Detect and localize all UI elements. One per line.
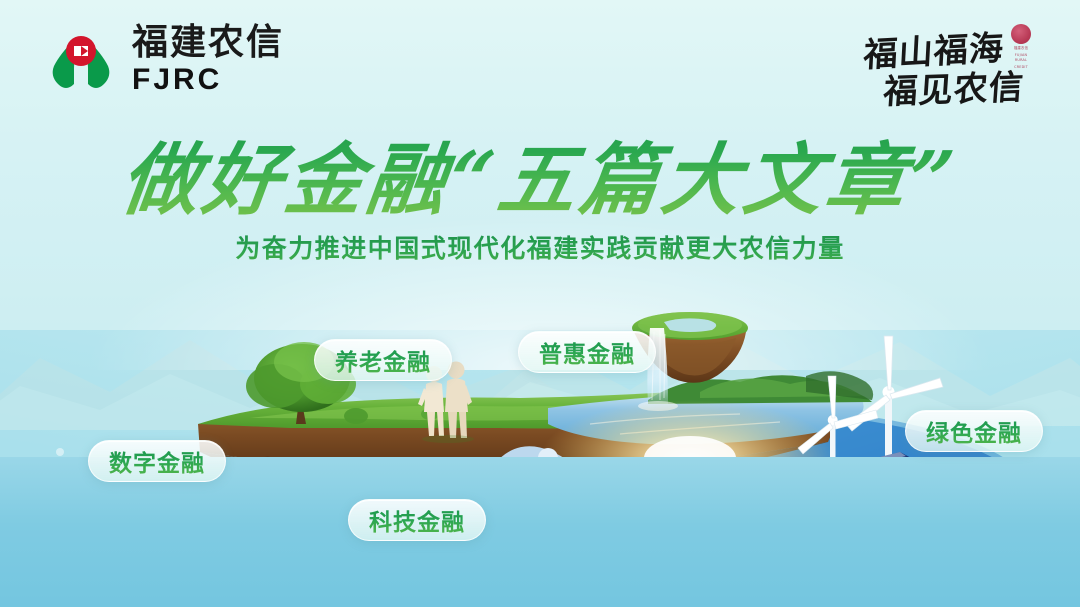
seal-caption-3: CREDIT bbox=[1008, 65, 1034, 70]
brand-logo-text: 福建农信 FJRC bbox=[132, 25, 284, 95]
label-green-finance-text: 绿色金融 bbox=[926, 414, 1022, 448]
seal-caption-2: FUJIAN RURAL bbox=[1008, 53, 1034, 63]
seal-caption-1: 福建农信 bbox=[1008, 46, 1034, 51]
brand-logo: 福建农信 FJRC bbox=[44, 24, 284, 96]
label-green-finance[interactable]: 绿色金融 bbox=[905, 410, 1043, 452]
brand-name-cn: 福建农信 bbox=[132, 25, 284, 61]
label-tech-finance[interactable]: 科技金融 bbox=[348, 499, 486, 541]
label-inclusive-finance[interactable]: 普惠金融 bbox=[518, 331, 656, 373]
label-inclusive-finance-text: 普惠金融 bbox=[539, 335, 635, 369]
page-subtitle: 为奋力推进中国式现代化福建实践贡献更大农信力量 bbox=[0, 229, 1080, 265]
label-digital-finance[interactable]: 数字金融 bbox=[88, 440, 226, 482]
calligraphy-slogan: 福山福海 福见农信 福建农信 FUJIAN RURAL CREDIT bbox=[858, 18, 1058, 110]
red-seal-stamp: 福建农信 FUJIAN RURAL CREDIT bbox=[1008, 24, 1034, 56]
calligraphy-line-2: 福见农信 bbox=[882, 60, 1026, 114]
banner-canvas: 福建农信 FJRC 福山福海 福见农信 福建农信 FUJIAN RURAL CR… bbox=[0, 0, 1080, 607]
label-digital-finance-text: 数字金融 bbox=[109, 444, 205, 478]
label-tech-finance-text: 科技金融 bbox=[369, 503, 465, 537]
brand-name-en: FJRC bbox=[132, 65, 284, 95]
fjrc-hands-coin-logo bbox=[44, 24, 118, 96]
seal-circle-icon bbox=[1011, 24, 1031, 44]
page-title: 做好金融“五篇大文章” bbox=[0, 118, 1080, 230]
label-pension-finance[interactable]: 养老金融 bbox=[314, 339, 452, 381]
label-pension-finance-text: 养老金融 bbox=[335, 343, 431, 377]
